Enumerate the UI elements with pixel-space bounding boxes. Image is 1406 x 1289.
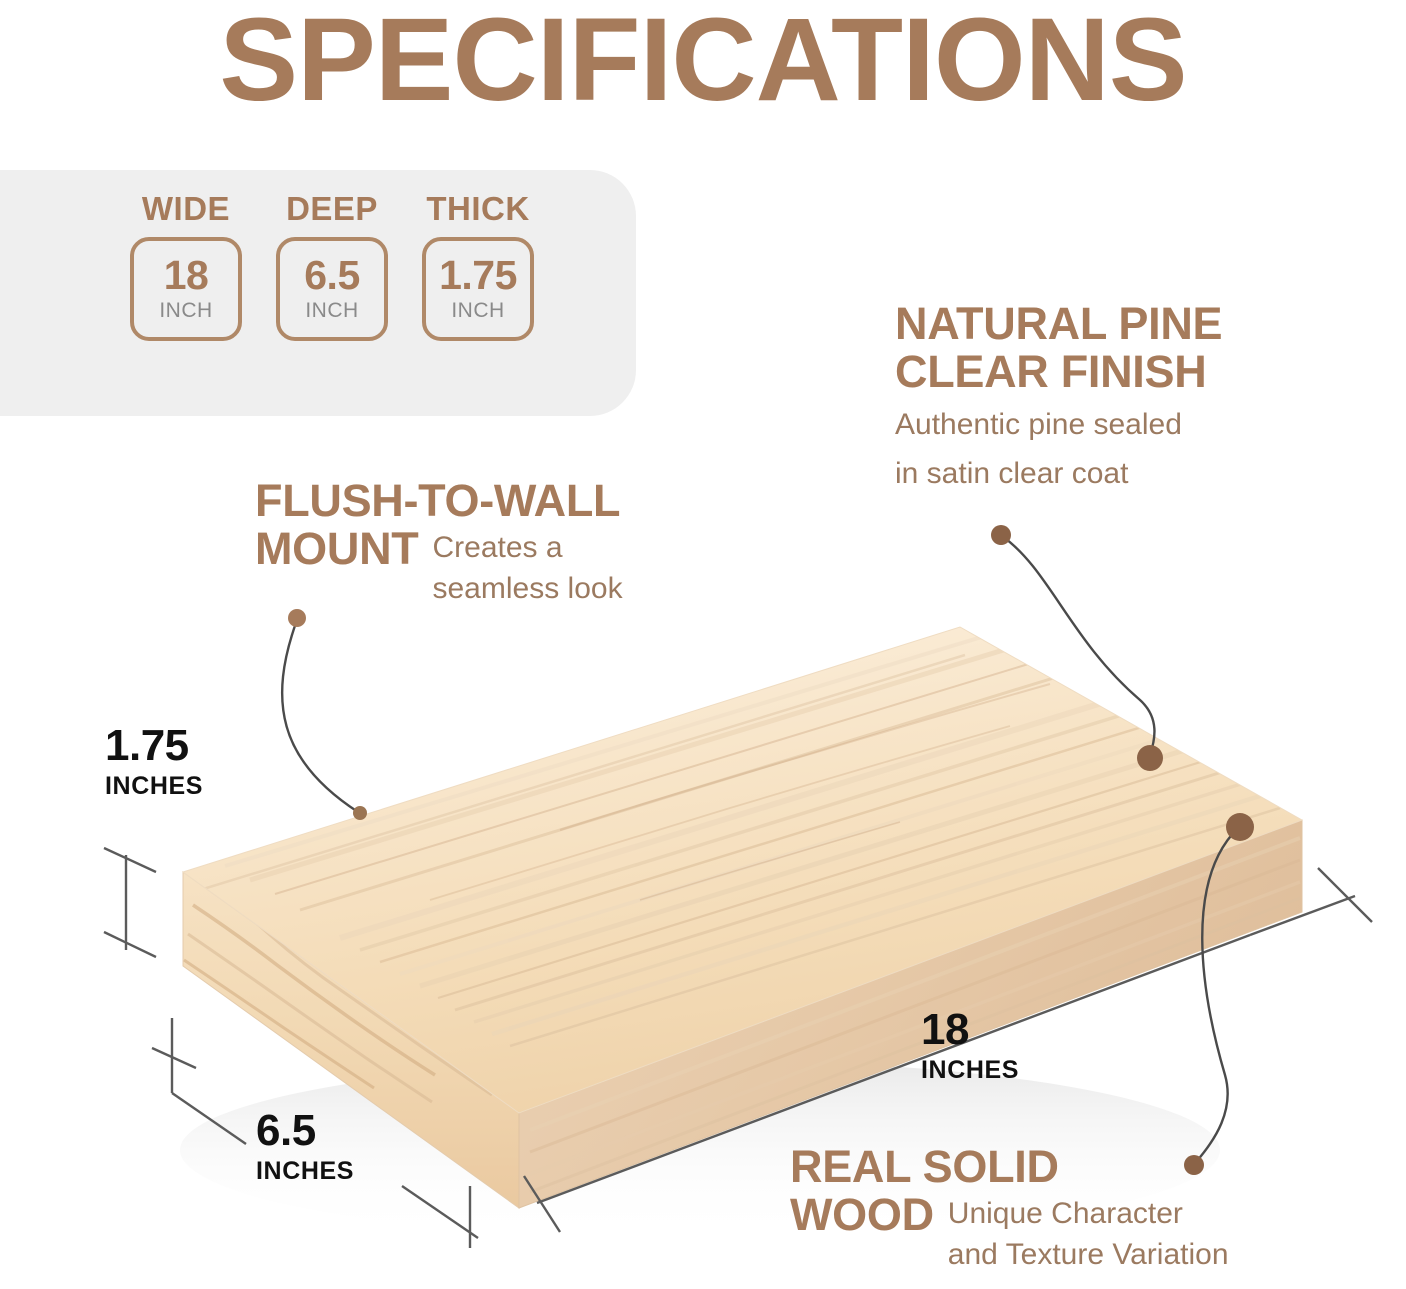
- callout-mount-head-line1: FLUSH-TO-WALL: [255, 477, 815, 525]
- dimension-depth-unit: INCHES: [256, 1157, 354, 1186]
- callout-wood-sub-line1: Unique Character: [948, 1191, 1229, 1233]
- badge-box-wide: 18 INCH: [130, 237, 242, 341]
- dimension-thickness-value: 1.75: [105, 724, 203, 768]
- badge-label-thick: THICK: [422, 190, 534, 228]
- leader-line-real-solid-wood: [1184, 813, 1254, 1175]
- leader-line-flush-mount: [282, 609, 367, 820]
- callout-mount-sub-line1: Creates a: [432, 525, 622, 567]
- badge-unit-wide: INCH: [159, 299, 212, 323]
- leader-dot-pine-board: [1137, 745, 1163, 771]
- callout-flush-to-wall-mount: FLUSH-TO-WALL MOUNT Creates a seamless l…: [255, 477, 815, 608]
- badge-value-wide: 18: [164, 255, 209, 296]
- callout-pine-head-line2: CLEAR FINISH: [895, 348, 1325, 396]
- leader-line-natural-pine: [991, 525, 1163, 771]
- dimension-badge-thick: THICK 1.75 INCH: [422, 190, 534, 341]
- callout-pine-sub-line1: Authentic pine sealed: [895, 407, 1325, 444]
- badge-label-deep: DEEP: [276, 190, 388, 228]
- dimension-width-unit: INCHES: [921, 1056, 1019, 1085]
- page-title: SPECIFICATIONS: [0, 0, 1406, 126]
- dimension-depth-value: 6.5: [256, 1109, 354, 1153]
- dimension-badge-deep: DEEP 6.5 INCH: [276, 190, 388, 341]
- dimension-label-width: 18 INCHES: [921, 1008, 1019, 1085]
- dimension-line-thickness: [104, 848, 156, 957]
- callout-mount-head-line2: MOUNT: [255, 525, 418, 573]
- leader-dot-flush-mount-text: [288, 609, 306, 627]
- callout-natural-pine: NATURAL PINE CLEAR FINISH Authentic pine…: [895, 300, 1325, 493]
- callout-pine-head-line1: NATURAL PINE: [895, 300, 1325, 348]
- dimension-label-thickness: 1.75 INCHES: [105, 724, 203, 801]
- leader-dot-pine-text: [991, 525, 1011, 545]
- badge-box-thick: 1.75 INCH: [422, 237, 534, 341]
- badge-box-deep: 6.5 INCH: [276, 237, 388, 341]
- leader-dot-flush-mount-board: [353, 806, 367, 820]
- badge-value-thick: 1.75: [439, 255, 517, 296]
- dimension-width-value: 18: [921, 1008, 1019, 1052]
- badge-value-deep: 6.5: [304, 255, 360, 296]
- callout-pine-sub-line2: in satin clear coat: [895, 456, 1325, 493]
- dimension-badge-group: WIDE 18 INCH DEEP 6.5 INCH THICK 1.75 IN…: [130, 190, 534, 341]
- leader-dot-wood-board: [1226, 813, 1254, 841]
- badge-unit-thick: INCH: [451, 299, 504, 323]
- dimension-badge-wide: WIDE 18 INCH: [130, 190, 242, 341]
- callout-wood-head-line2: WOOD: [790, 1191, 934, 1239]
- callout-wood-head-line1: REAL SOLID: [790, 1143, 1390, 1191]
- callout-wood-sub-line2: and Texture Variation: [948, 1232, 1229, 1274]
- board-top-face: [183, 627, 1302, 1113]
- badge-label-wide: WIDE: [130, 190, 242, 228]
- badge-unit-deep: INCH: [305, 299, 358, 323]
- callout-mount-sub-line2: seamless look: [432, 566, 622, 608]
- dimension-label-depth: 6.5 INCHES: [256, 1109, 354, 1186]
- dimension-thickness-unit: INCHES: [105, 772, 203, 801]
- callout-real-solid-wood: REAL SOLID WOOD Unique Character and Tex…: [790, 1143, 1390, 1274]
